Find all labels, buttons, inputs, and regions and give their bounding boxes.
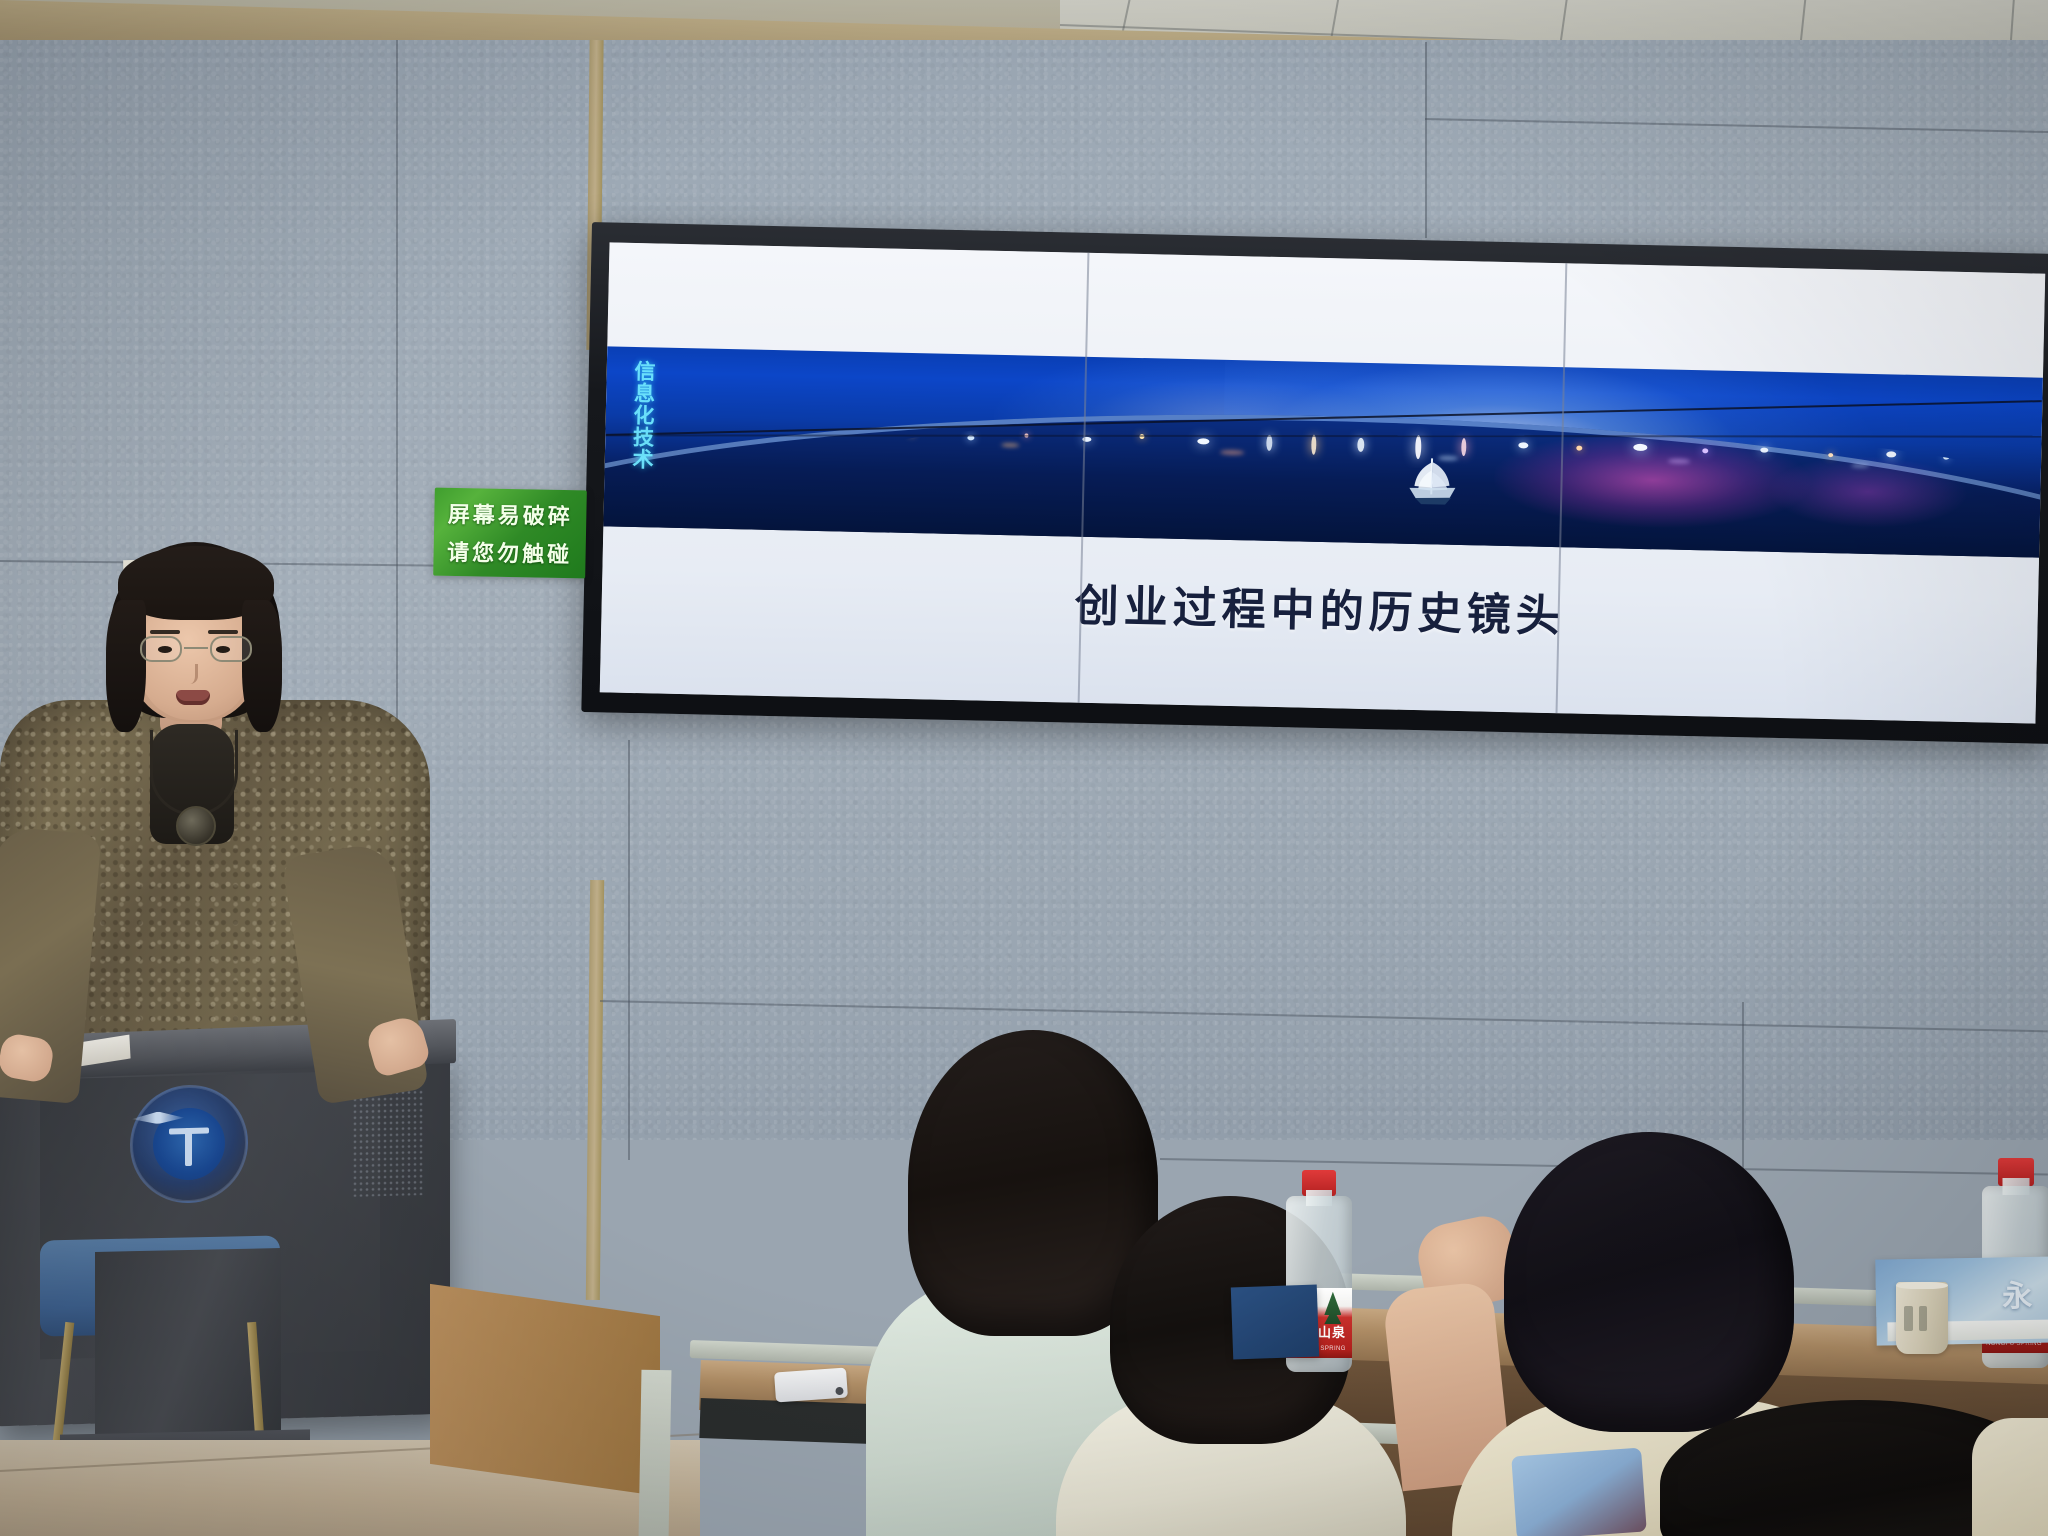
presenter-pendant [176, 806, 216, 846]
presenter-brow-left [150, 630, 180, 634]
table-name-card-2 [1231, 1285, 1319, 1360]
student-3-hair [1504, 1132, 1794, 1432]
wall-seam-v-2 [628, 740, 630, 1160]
name-card-character: 永 [2002, 1271, 2033, 1316]
bottle-2-neck [2003, 1178, 2030, 1195]
screen-warning-sign: 屏幕易破碎 请您勿触碰 [433, 488, 587, 579]
student-3-shirt-graphic [1511, 1448, 1647, 1536]
student-4-shoulder [1972, 1418, 2048, 1536]
screen-display-area: 信息化技术 创业过程中的历史镜头 [600, 242, 2045, 723]
bottle-1-tree-logo [1324, 1292, 1341, 1324]
presenter-nose [186, 664, 198, 684]
presenter-necklace [150, 730, 238, 816]
presenter-hair-left [106, 600, 146, 732]
presentation-slide: 信息化技术 创业过程中的历史镜头 [600, 242, 2045, 723]
desk-side-panel-left [639, 1370, 672, 1536]
smartphone-on-desk[interactable] [774, 1368, 848, 1403]
cup-marking-1 [1904, 1306, 1912, 1330]
presenter-brow-right [208, 630, 238, 634]
warning-line-1: 屏幕易破碎 [448, 497, 574, 531]
cup-marking-2 [1919, 1306, 1927, 1330]
slide-side-vertical-text: 信息化技术 [622, 360, 654, 471]
paper-cup[interactable] [1896, 1282, 1948, 1354]
podium-speaker-grill [352, 1089, 424, 1197]
slide-title: 创业过程中的历史镜头 [601, 560, 2038, 655]
lecture-hall-photo: 信息化技术 创业过程中的历史镜头 屏幕易破碎 请您勿触碰 [0, 0, 2048, 1536]
wall-wood-skirting [430, 1284, 660, 1496]
sailing-ship-icon [1401, 453, 1464, 514]
presenter-eye-right [216, 646, 230, 653]
crest-ring-text [132, 1086, 246, 1203]
glasses-bridge [184, 647, 208, 649]
wall-seam-v-1 [1425, 42, 1427, 238]
presenter-glasses [140, 636, 252, 662]
wall-trim-vertical-left-lower [586, 880, 604, 1300]
presenter-hair-right [242, 600, 282, 732]
slide-panorama-image [603, 346, 2043, 557]
led-video-wall[interactable]: 信息化技术 创业过程中的历史镜头 [581, 222, 2048, 744]
presenter-eye-left [158, 646, 172, 653]
warning-line-2: 请您勿触碰 [447, 535, 573, 569]
presenter-mouth [176, 690, 210, 705]
bottle-1-neck [1306, 1190, 1332, 1206]
